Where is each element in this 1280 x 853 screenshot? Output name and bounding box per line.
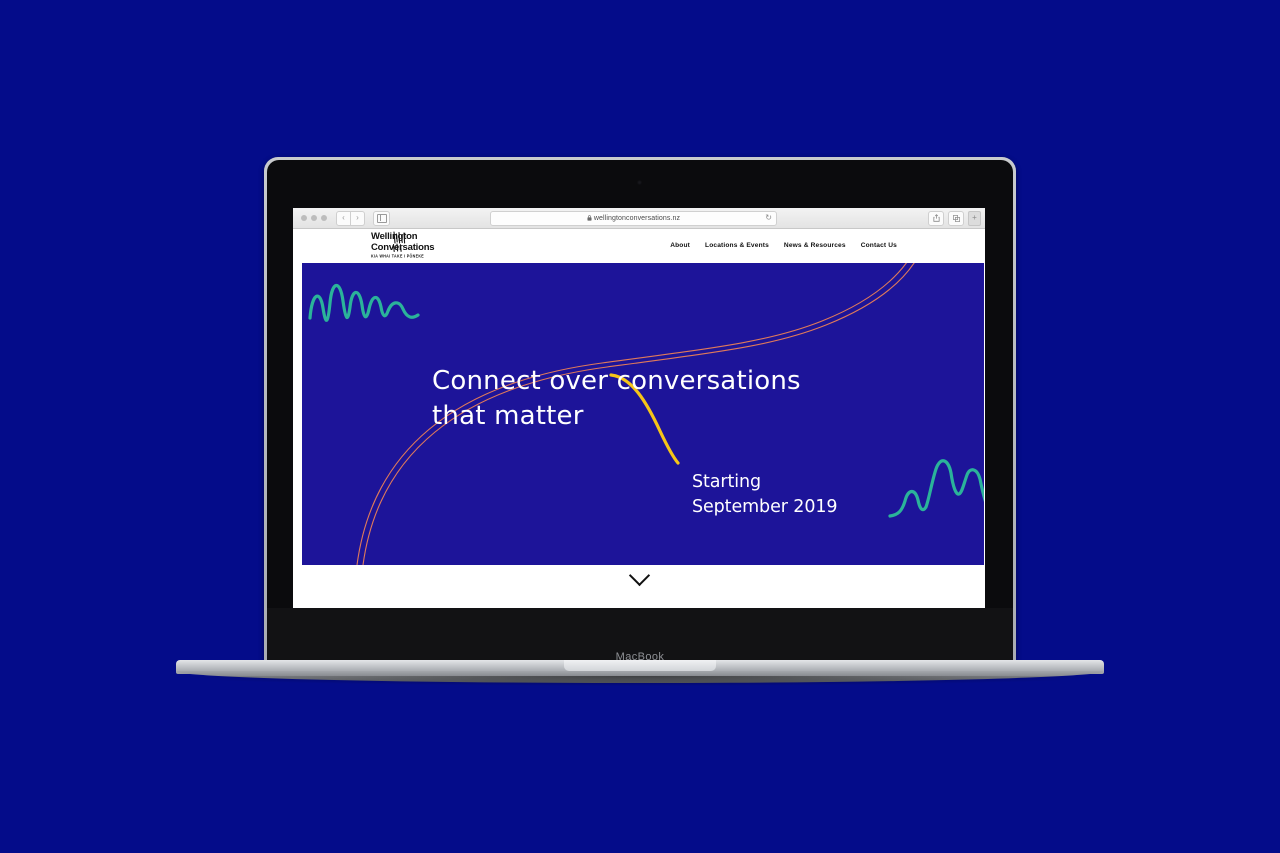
logo-line-2: Conversations bbox=[371, 243, 434, 253]
scroll-down-cue[interactable] bbox=[293, 568, 985, 588]
logo-tagline: KIA WHAI TAKE I PŌNEKE bbox=[371, 255, 434, 259]
address-bar-url: wellingtonconversations.nz bbox=[594, 215, 680, 222]
sidebar-icon bbox=[377, 214, 387, 223]
browser-window: ‹ › wellingtonconversations.nz ↻ bbox=[293, 208, 985, 608]
nav-item-about[interactable]: About bbox=[670, 242, 690, 249]
logo-line-1: Wellington bbox=[371, 232, 434, 242]
browser-toolbar: ‹ › wellingtonconversations.nz ↻ bbox=[293, 208, 985, 229]
nav-item-contact-us[interactable]: Contact Us bbox=[861, 242, 897, 249]
reload-icon[interactable]: ↻ bbox=[765, 214, 772, 222]
webcam-icon bbox=[637, 180, 642, 185]
starting-line-1: Starting bbox=[692, 472, 761, 492]
site-header: Wellington Conversations KIA WHAI TAKE I… bbox=[293, 229, 985, 263]
nav-item-locations-events[interactable]: Locations & Events bbox=[705, 242, 769, 249]
laptop-base-shadow bbox=[176, 676, 1104, 686]
teal-waveform-left bbox=[310, 285, 418, 320]
forward-button[interactable]: › bbox=[351, 211, 365, 226]
teal-waveform-right bbox=[890, 461, 984, 516]
nav-buttons[interactable]: ‹ › bbox=[336, 211, 365, 226]
sidebar-toggle-button[interactable] bbox=[373, 211, 390, 226]
laptop-chin: MacBook bbox=[267, 608, 1013, 662]
minimize-button[interactable] bbox=[311, 215, 317, 221]
nav-item-news-resources[interactable]: News & Resources bbox=[784, 242, 846, 249]
hero-headline-line-2: that matter bbox=[432, 401, 584, 431]
hero-headline-line-1: Connect over conversations bbox=[432, 366, 801, 396]
main-navigation[interactable]: About Locations & Events News & Resource… bbox=[670, 242, 897, 249]
chevron-down-icon[interactable] bbox=[628, 565, 649, 586]
macbook-device: ‹ › wellingtonconversations.nz ↻ bbox=[0, 0, 1280, 853]
share-icon[interactable] bbox=[928, 211, 944, 226]
hero-starting-date: Starting September 2019 bbox=[692, 470, 837, 520]
hero-banner: Connect over conversations that matter S… bbox=[302, 263, 984, 565]
new-tab-button[interactable]: + bbox=[968, 211, 981, 226]
back-button[interactable]: ‹ bbox=[336, 211, 351, 226]
toolbar-right-icons[interactable]: + bbox=[928, 211, 981, 226]
starting-line-2: September 2019 bbox=[692, 497, 837, 517]
address-bar[interactable]: wellingtonconversations.nz ↻ bbox=[490, 211, 777, 226]
zoom-button[interactable] bbox=[321, 215, 327, 221]
lock-icon bbox=[587, 215, 592, 221]
window-traffic-lights[interactable] bbox=[301, 215, 327, 221]
site-logo[interactable]: Wellington Conversations KIA WHAI TAKE I… bbox=[371, 232, 434, 258]
close-button[interactable] bbox=[301, 215, 307, 221]
show-tabs-icon[interactable] bbox=[948, 211, 964, 226]
laptop-base-notch bbox=[564, 660, 716, 671]
hero-headline: Connect over conversations that matter bbox=[432, 364, 801, 433]
